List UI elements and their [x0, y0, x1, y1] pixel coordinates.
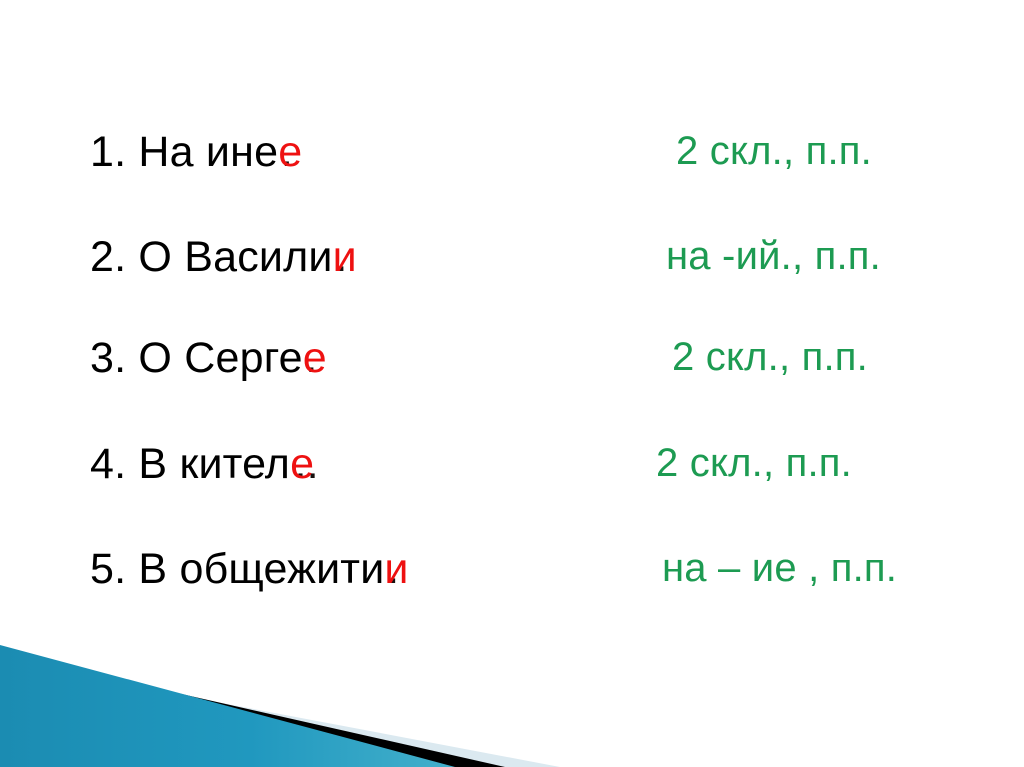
- corrected-ending: е: [278, 128, 302, 176]
- black-stripe: [0, 653, 505, 767]
- item-number: 3.: [90, 334, 126, 382]
- grammar-answer: на – ие , п.п.: [662, 548, 897, 588]
- phrase-text: [126, 334, 138, 382]
- phrase-stem: В кител: [138, 440, 290, 488]
- exercise-phrase: 3. О Сергее.: [90, 337, 315, 380]
- pale-blue-band: [0, 661, 560, 767]
- corrected-ending: и: [333, 233, 357, 281]
- phrase-stem: В общежити: [138, 545, 384, 593]
- exercise-phrase: 1. На инее.: [90, 131, 291, 174]
- grammar-answer: на -ий., п.п.: [666, 236, 881, 276]
- corrected-ending: и: [384, 545, 408, 593]
- phrase-text: [126, 233, 138, 281]
- phrase-stem: О Серге: [138, 334, 302, 382]
- angles-theme-graphic: [0, 617, 1024, 767]
- corrected-ending: е: [303, 334, 327, 382]
- item-number: 2.: [90, 233, 126, 281]
- exercise-list: 1. На инее. 2 скл., п.п. 2. О Василии. н…: [0, 0, 1024, 625]
- grammar-answer: 2 скл., п.п.: [676, 131, 872, 171]
- exercise-phrase: 2. О Василии.: [90, 236, 345, 279]
- item-number: 4.: [90, 440, 126, 488]
- slide-canvas: 1. На инее. 2 скл., п.п. 2. О Василии. н…: [0, 0, 1024, 767]
- item-number: 1.: [90, 128, 126, 176]
- exercise-phrase: 5. В общежитии.: [90, 548, 397, 591]
- phrase-stem: На ине: [138, 128, 278, 176]
- corrected-ending: е: [290, 440, 314, 488]
- item-number: 5.: [90, 545, 126, 593]
- slide-footer-decoration: [0, 617, 1024, 767]
- grammar-answer: 2 скл., п.п.: [672, 337, 868, 377]
- phrase-text: [126, 128, 138, 176]
- phrase-text: [126, 440, 138, 488]
- teal-wedge: [0, 645, 455, 767]
- grammar-answer: 2 скл., п.п.: [656, 443, 852, 483]
- phrase-stem: О Васили: [138, 233, 332, 281]
- exercise-phrase: 4. В кителе..: [90, 443, 317, 486]
- phrase-text: [126, 545, 138, 593]
